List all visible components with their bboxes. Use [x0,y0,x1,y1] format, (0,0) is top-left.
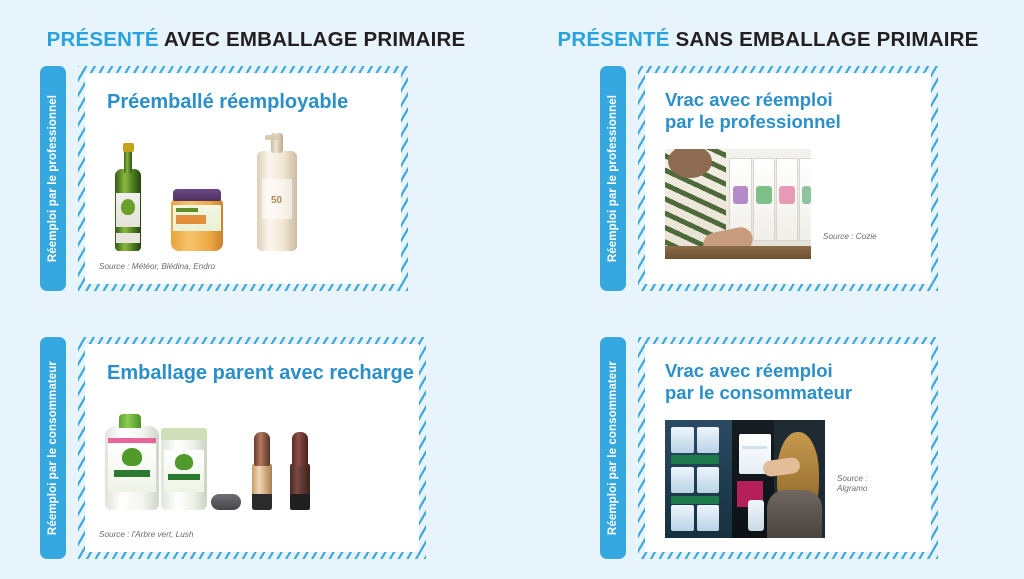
tab-reuse-consumer-left[interactable]: Réemploi par le consommateur [40,337,66,559]
header-right: PRÉSENTÉ SANS EMBALLAGE PRIMAIRE [512,28,1024,52]
card-title-line1: Vrac avec réemploi [645,73,931,111]
card-vrac-reemploi-professionnel[interactable]: Vrac avec réemploi par le professionnel [638,66,938,291]
card-preemballe-reemployable[interactable]: Préemballé réemployable Sour [78,66,408,291]
lipstick-cap-icon [211,494,241,510]
baby-food-jar-icon [171,189,223,251]
lipstick-gold-icon [251,432,273,510]
column-headers: PRÉSENTÉ AVEC EMBALLAGE PRIMAIRE PRÉSENT… [0,28,1024,52]
tab-label: Réemploi par le consommateur [47,361,59,535]
card-inner: Vrac avec réemploi par le consommateur [645,344,931,552]
refill-pouch-icon [161,428,207,510]
lipstick-dark-icon [289,432,311,510]
source-caption: Source : Météor, Blédina, Endro [99,262,215,272]
card-inner: Emballage parent avec recharge [85,344,419,552]
product-group [107,131,377,251]
card-title: Emballage parent avec recharge [85,344,419,386]
header-left: PRÉSENTÉ AVEC EMBALLAGE PRIMAIRE [0,28,512,52]
source-caption: Source : Algramo [837,474,868,495]
header-left-highlight: PRÉSENTÉ [47,28,159,51]
infographic-page: PRÉSENTÉ AVEC EMBALLAGE PRIMAIRE PRÉSENT… [0,0,1024,579]
card-title: Préemballé réemployable [85,73,401,115]
green-beer-bottle-icon [115,143,141,251]
photo-bulk-vending-consumer [665,420,825,538]
tab-label: Réemploi par le professionnel [607,95,619,262]
card-vrac-reemploi-consommateur[interactable]: Vrac avec réemploi par le consommateur [638,337,938,559]
card-inner: Préemballé réemployable Sour [85,73,401,284]
card-title-line2: par le professionnel [645,111,931,133]
card-title-line1: Vrac avec réemploi [645,344,931,382]
tab-label: Réemploi par le consommateur [607,361,619,535]
photo-bulk-dispenser-professional [665,149,811,259]
tall-pump-bottle-icon [257,133,297,251]
source-caption: Source : l'Arbre vert, Lush [99,530,193,540]
card-title-line2: par le consommateur [645,382,931,404]
header-right-rest: SANS EMBALLAGE PRIMAIRE [670,28,979,51]
tab-reuse-consumer-right[interactable]: Réemploi par le consommateur [600,337,626,559]
tab-reuse-professional-right[interactable]: Réemploi par le professionnel [600,66,626,291]
source-caption: Source : Cozie [823,232,877,242]
tab-label: Réemploi par le professionnel [47,95,59,262]
tab-reuse-professional-left[interactable]: Réemploi par le professionnel [40,66,66,291]
header-left-rest: AVEC EMBALLAGE PRIMAIRE [159,28,466,51]
card-emballage-parent-avec-recharge[interactable]: Emballage parent avec recharge [78,337,426,559]
product-group [103,400,403,510]
card-inner: Vrac avec réemploi par le professionnel [645,73,931,284]
detergent-bottle-icon [105,414,159,510]
header-right-highlight: PRÉSENTÉ [557,28,669,51]
